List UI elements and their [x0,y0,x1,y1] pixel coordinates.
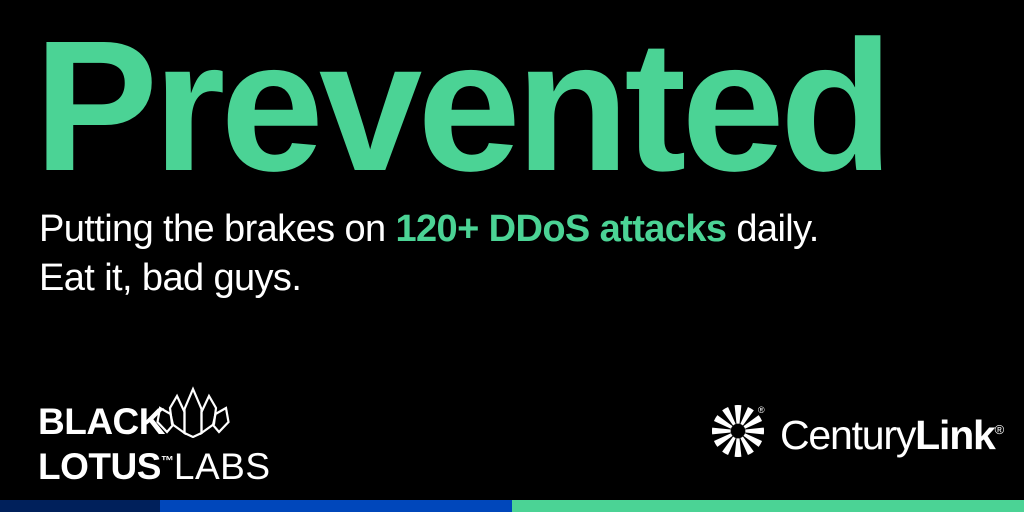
subheadline: Putting the brakes on 120+ DDoS attacks … [39,205,819,303]
centurylink-logo: ® CenturyLink® [712,404,992,458]
subheadline-line-2: Eat it, bad guys. [39,254,819,303]
brand-color-bar [0,500,1024,512]
centurylink-century-word: Century [780,412,915,458]
subheadline-text-after: daily. [726,208,818,250]
color-bar-segment-blue [160,500,512,512]
black-lotus-lotus-word: LOTUS [38,446,161,487]
page-title: Prevented [34,14,888,200]
color-bar-segment-mint [512,500,1024,512]
starburst-registered-mark: ® [758,405,765,415]
black-lotus-line-1: BLACK [38,403,165,440]
color-bar-segment-navy [0,500,160,512]
starburst-icon [712,405,764,457]
black-lotus-labs-logo: BLACK LOTUS™LABS [38,386,268,480]
subheadline-highlight: 120+ DDoS attacks [395,208,726,250]
registered-mark: ® [995,422,1005,437]
lotus-flower-icon [156,386,230,438]
promo-banner: Prevented Putting the brakes on 120+ DDo… [0,0,1024,512]
black-lotus-labs-word: LABS [174,446,271,487]
centurylink-wordmark: CenturyLink® [780,409,1004,456]
centurylink-link-word: Link [915,412,994,458]
subheadline-text-before: Putting the brakes on [39,208,395,250]
subheadline-line-1: Putting the brakes on 120+ DDoS attacks … [39,205,819,254]
black-lotus-line-2: LOTUS™LABS [38,442,271,485]
trademark-symbol: ™ [161,453,174,468]
